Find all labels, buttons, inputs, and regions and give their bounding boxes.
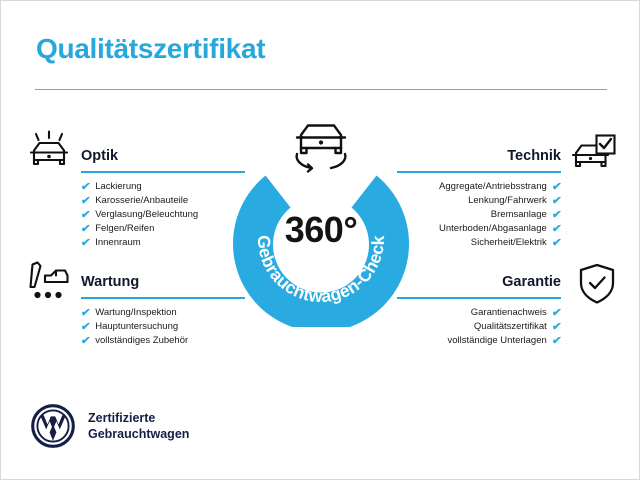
list-item-label: Aggregate/Antriebsstrang (439, 180, 547, 194)
check-icon: ✔ (80, 224, 91, 235)
check-icon: ✔ (551, 238, 562, 249)
list-item-label: Sicherheit/Elektrik (471, 236, 547, 250)
check-icon: ✔ (551, 322, 562, 333)
sparkling-car-icon (25, 130, 73, 176)
check-icon: ✔ (80, 238, 91, 249)
list-item: ✔Verglasung/Beleuchtung (81, 208, 245, 222)
section-title: Garantie (397, 273, 561, 291)
section-divider (397, 297, 561, 299)
wrench-car-service-icon (25, 259, 73, 305)
list-item-label: Lackierung (95, 180, 141, 194)
list-item: ✔Karosserie/Anbauteile (81, 194, 245, 208)
list-item: Bremsanlage✔ (397, 208, 561, 222)
check-icon: ✔ (80, 308, 91, 319)
360-check-badge: Gebrauchtwagen-Check 360° (233, 151, 409, 327)
section-header: Optik (81, 147, 245, 173)
list-item: ✔Wartung/Inspektion (81, 306, 245, 320)
title-divider (35, 89, 607, 90)
list-item-label: Felgen/Reifen (95, 222, 154, 236)
section-optik: Optik ✔Lackierung ✔Karosserie/Anbauteile… (81, 147, 245, 250)
list-item: Unterboden/Abgasanlage✔ (397, 222, 561, 236)
check-icon: ✔ (80, 322, 91, 333)
check-icon: ✔ (551, 182, 562, 193)
check-icon: ✔ (80, 196, 91, 207)
check-icon: ✔ (551, 210, 562, 221)
section-wartung: Wartung ✔Wartung/Inspektion ✔Hauptunters… (81, 273, 245, 348)
section-divider (81, 297, 245, 299)
list-item-label: Wartung/Inspektion (95, 306, 177, 320)
list-item: ✔vollständiges Zubehör (81, 334, 245, 348)
list-item: Aggregate/Antriebsstrang✔ (397, 180, 561, 194)
list-item-label: Qualitätszertifikat (474, 320, 547, 334)
vw-certified-footer: Zertifizierte Gebrauchtwagen (31, 404, 189, 448)
check-icon: ✔ (551, 336, 562, 347)
list-item-label: Lenkung/Fahrwerk (468, 194, 547, 208)
check-icon: ✔ (80, 336, 91, 347)
section-header: Wartung (81, 273, 245, 299)
list-item: Lenkung/Fahrwerk✔ (397, 194, 561, 208)
list-item: ✔Hauptuntersuchung (81, 320, 245, 334)
checklist-garantie: Garantienachweis✔ Qualitätszertifikat✔ v… (397, 306, 561, 348)
list-item-label: Karosserie/Anbauteile (95, 194, 188, 208)
section-header: Garantie (397, 273, 561, 299)
list-item-label: Bremsanlage (491, 208, 547, 222)
list-item-label: Garantienachweis (471, 306, 547, 320)
list-item-label: vollständiges Zubehör (95, 334, 188, 348)
shield-check-icon (573, 261, 621, 307)
list-item-label: Innenraum (95, 236, 140, 250)
page-title: Qualitätszertifikat (36, 35, 265, 63)
section-header: Technik (397, 147, 561, 173)
check-icon: ✔ (551, 196, 562, 207)
car-checkbox-icon (569, 132, 617, 178)
section-title: Optik (81, 147, 245, 165)
check-icon: ✔ (80, 182, 91, 193)
volkswagen-logo (31, 404, 75, 448)
list-item-label: Hauptuntersuchung (95, 320, 178, 334)
list-item: Qualitätszertifikat✔ (397, 320, 561, 334)
list-item: ✔Lackierung (81, 180, 245, 194)
checklist-wartung: ✔Wartung/Inspektion ✔Hauptuntersuchung ✔… (81, 306, 245, 348)
check-icon: ✔ (80, 210, 91, 221)
list-item-label: Unterboden/Abgasanlage (439, 222, 547, 236)
list-item: Sicherheit/Elektrik✔ (397, 236, 561, 250)
section-title: Technik (397, 147, 561, 165)
list-item: vollständige Unterlagen✔ (397, 334, 561, 348)
badge-degrees: 360° (233, 209, 409, 251)
footer-label: Zertifizierte Gebrauchtwagen (88, 410, 189, 442)
list-item: ✔Felgen/Reifen (81, 222, 245, 236)
section-divider (397, 171, 561, 173)
certificate-page: Qualitätszertifikat (0, 0, 640, 480)
section-garantie: Garantie Garantienachweis✔ Qualitätszert… (397, 273, 561, 348)
section-technik: Technik Aggregate/Antriebsstrang✔ Lenkun… (397, 147, 561, 250)
list-item-label: vollständige Unterlagen (447, 334, 546, 348)
check-icon: ✔ (551, 224, 562, 235)
check-icon: ✔ (551, 308, 562, 319)
section-title: Wartung (81, 273, 245, 291)
list-item-label: Verglasung/Beleuchtung (95, 208, 198, 222)
section-divider (81, 171, 245, 173)
rotating-car-icon (281, 118, 361, 176)
list-item: ✔Innenraum (81, 236, 245, 250)
list-item: Garantienachweis✔ (397, 306, 561, 320)
checklist-technik: Aggregate/Antriebsstrang✔ Lenkung/Fahrwe… (397, 180, 561, 250)
checklist-optik: ✔Lackierung ✔Karosserie/Anbauteile ✔Verg… (81, 180, 245, 250)
